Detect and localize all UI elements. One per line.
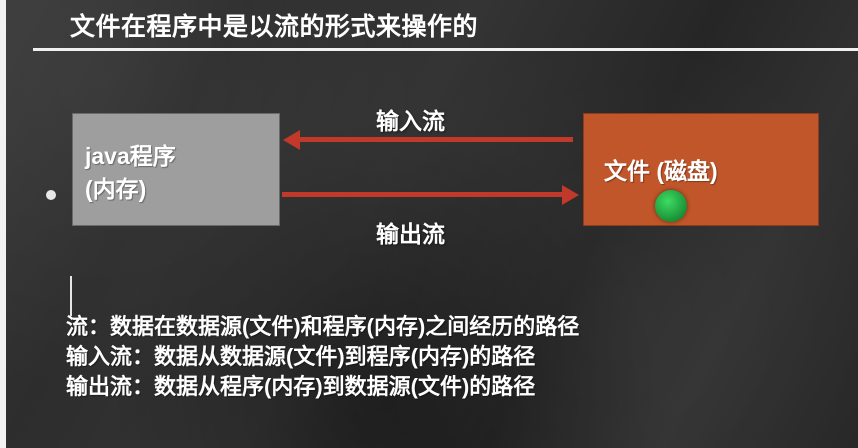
input-stream-arrow-line — [298, 137, 573, 142]
input-stream-label: 输入流 — [376, 102, 445, 136]
program-box: java程序 (内存) — [72, 113, 280, 226]
output-stream-arrow-line — [282, 192, 562, 197]
output-stream-label: 输出流 — [376, 215, 445, 249]
input-stream-arrow-head-icon — [283, 130, 300, 150]
note-line-1: 流：数据在数据源(文件)和程序(内存)之间经历的路径 — [66, 312, 579, 342]
vertical-tick-mark — [70, 276, 72, 316]
title-divider — [33, 48, 858, 51]
file-box: 文件 (磁盘) — [583, 113, 819, 226]
left-edge-strip — [0, 0, 6, 448]
note-line-3: 输出流：数据从程序(内存)到数据源(文件)的路径 — [66, 372, 579, 402]
program-box-label-line1: java程序 — [85, 143, 176, 169]
green-pointer-marker-icon — [655, 190, 687, 222]
file-box-label: 文件 (磁盘) — [604, 152, 718, 186]
program-box-label-line2: (内存) — [85, 176, 146, 202]
page-title: 文件在程序中是以流的形式来操作的 — [70, 7, 478, 43]
program-box-label: java程序 (内存) — [85, 140, 176, 206]
note-line-2: 输入流：数据从数据源(文件)到程序(内存)的路径 — [66, 342, 579, 372]
bullet-dot-icon — [46, 190, 56, 200]
output-stream-arrow-head-icon — [562, 185, 579, 205]
slide-canvas: 文件在程序中是以流的形式来操作的 java程序 (内存) 文件 (磁盘) 输入流… — [0, 0, 858, 448]
explanation-notes: 流：数据在数据源(文件)和程序(内存)之间经历的路径 输入流：数据从数据源(文件… — [66, 312, 579, 402]
